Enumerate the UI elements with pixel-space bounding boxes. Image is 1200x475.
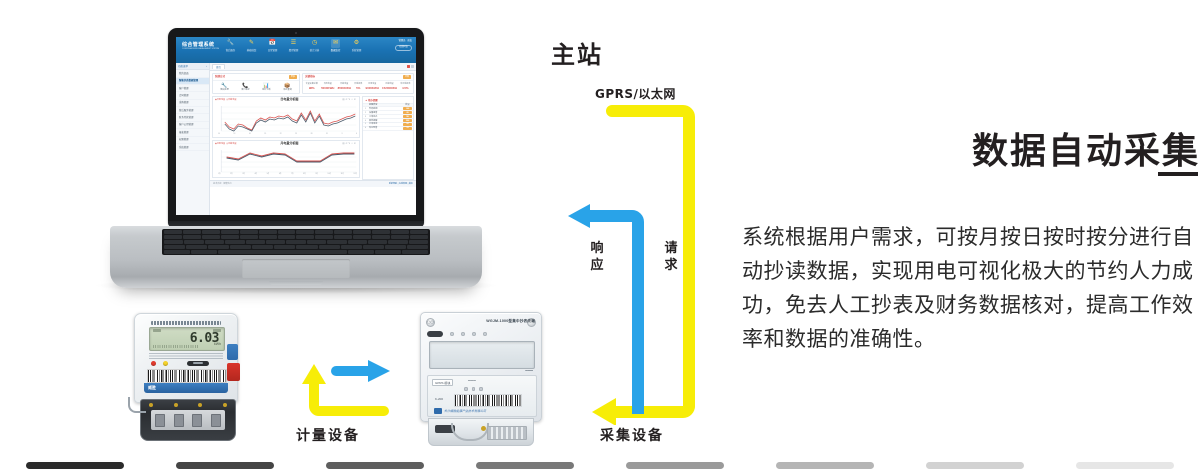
collector-brand: 长沙威胜能源产业技术有限公司	[434, 408, 486, 414]
sidebar-item-5[interactable]: 售后服务管理	[176, 107, 209, 114]
sidebar-item-2[interactable]: 客户管理	[176, 85, 209, 92]
nav-label-2: 日常管理	[266, 49, 279, 52]
gear-icon: ⚙	[352, 39, 361, 48]
xtick: 3月	[242, 174, 244, 176]
kpi-header: 关键指标 详情	[303, 74, 413, 81]
clock-icon: ◷	[310, 39, 319, 48]
charts-column: ◉日用电量 ◎日峰电量 日电量分析图 ▤↺✎○▼	[212, 96, 360, 179]
table-row[interactable]: 6 库存预警 15	[363, 127, 413, 131]
collector-model: WGJM-1000型集中抄表终端	[486, 319, 535, 324]
app-sidebar[interactable]: 功能菜单 ‹ 我的桌面 智能抄表数据管理 客户管理 合同管理 采购管理 售后服务…	[176, 63, 210, 215]
sidebar-item-10[interactable]: 系统管理	[176, 144, 209, 151]
cell-type: 回款提醒	[368, 120, 402, 123]
laptop-trackpad	[242, 259, 350, 278]
todo-title-text: 待办提醒	[368, 99, 378, 102]
collector-lcd-caption: ▬▬▬	[525, 369, 533, 372]
quick-label-1: 客户维护	[240, 89, 252, 92]
sidebar-item-1[interactable]: 智能抄表数据管理	[176, 78, 209, 85]
monthly-chart-title: 月电量分析图	[280, 142, 298, 146]
kpi-title: 关键指标	[305, 75, 315, 78]
description-text: 系统根据用户需求，可按月按日按时按分进行自动抄读数据，实现用电可视化极大的节约人…	[742, 220, 1194, 356]
nav-item-1[interactable]: ✎ 基础档案	[245, 39, 258, 52]
bottom-bar-2	[326, 462, 424, 469]
xtick: 1月	[218, 174, 220, 176]
bottom-decoration-bars	[0, 462, 1200, 469]
quick-access-header: 快捷方式 更多	[213, 74, 299, 81]
th-count: 数量	[402, 104, 413, 107]
collector-terminal-block	[487, 426, 527, 440]
nav-item-6[interactable]: ⚙ 系统管理	[350, 39, 363, 52]
daily-radio-1[interactable]: 日峰电量	[228, 99, 236, 101]
meter-housing: 6.03 kWh 威胜	[134, 313, 238, 403]
collector-barcode	[454, 394, 522, 407]
xtick: 25	[295, 134, 297, 136]
title-underline	[1158, 172, 1198, 176]
bottom-bar-1	[176, 462, 274, 469]
kpi-6: 当月线损率 4.5%	[400, 83, 410, 90]
meter-brand: 威胜	[148, 385, 156, 391]
quick-label-0: 售后处理	[219, 89, 231, 92]
cell-count: 108	[403, 107, 412, 110]
cell-count: 58	[403, 115, 412, 118]
gprs-module-label: GPRS 模块	[432, 379, 453, 386]
brand-logo-icon	[434, 408, 442, 414]
kpi-value-1: 5000KWH	[321, 87, 334, 91]
sidebar-item-7[interactable]: 客户公用管理	[176, 122, 209, 129]
monthly-radio-0[interactable]: 月用电量	[217, 143, 225, 145]
status-led-icon	[483, 332, 487, 336]
nav-label-1: 基础档案	[245, 49, 258, 52]
xtick: 4月	[255, 174, 257, 176]
cell-count: 26	[403, 111, 412, 114]
data-collector-device: ◯◯ WGJM-1000型集中抄表终端 ▬▬▬ GPRS 模块 ▬▬▬ K-20…	[420, 312, 540, 444]
logout-link[interactable]: 退出	[407, 40, 412, 42]
collector-module-panel: GPRS 模块 ▬▬▬ K-200 长沙威胜能源产业技术有限公司	[427, 375, 537, 417]
cell-type: 工单待办	[368, 116, 402, 119]
meter-red-terminal-cap	[227, 363, 240, 381]
footer-right[interactable]: 系统帮助 | 在线客服 | 版本	[389, 183, 413, 186]
page-title: 数据自动采集	[972, 122, 1200, 174]
quick-access-title: 快捷方式	[215, 75, 225, 78]
meter-lcd-display: 6.03 kWh	[149, 327, 225, 351]
xtick: 5月	[267, 174, 269, 176]
lcd-segments	[153, 345, 199, 348]
response-arrow-blue	[568, 204, 638, 414]
xtick: 13	[233, 134, 235, 136]
cell-type: 库存预警	[368, 127, 402, 130]
cell-count: 20	[403, 123, 412, 126]
status-led-icon	[450, 332, 454, 336]
kpi-items: 计量设备总数 98% 日用电量 5000KWH 日峰电量	[303, 81, 413, 93]
th-type: 提醒类型	[368, 104, 402, 107]
bottom-bar-0	[26, 462, 124, 469]
chevron-left-icon[interactable]: ‹	[206, 65, 207, 68]
cell-count: 208	[403, 119, 412, 122]
monthly-chart-box: ◉月用电量 ◎月峰电量 月电量分析图 ▤↺✎○▼	[212, 140, 360, 178]
collector-housing: ◯◯ WGJM-1000型集中抄表终端 ▬▬▬ GPRS 模块 ▬▬▬ K-20…	[420, 312, 542, 422]
bottom-bar-5	[776, 462, 874, 469]
app-footer: 技术支持：智能电力 系统帮助 | 在线客服 | 版本	[210, 180, 416, 187]
meter-terminal-cover	[140, 399, 236, 441]
nav-item-4[interactable]: ◷ 统计分析	[308, 39, 321, 52]
single-phase-meter: 6.03 kWh 威胜	[126, 313, 244, 443]
kpi-value-6: 4.5%	[400, 87, 410, 91]
collector-indicators	[427, 329, 535, 339]
app-logo-subtitle: COMPREHENSIVE MANAGEMENT SYSTEM	[182, 48, 219, 50]
laptop-illustration: 综合管理系统 COMPREHENSIVE MANAGEMENT SYSTEM 🔧…	[110, 28, 482, 308]
xtick: 12月	[354, 174, 357, 176]
nav-item-5[interactable]: ✉ 数据监控	[329, 39, 342, 52]
kpi-value-5: 15200KWH	[382, 87, 397, 91]
module-leds	[464, 387, 483, 391]
downlink-arrow-blue	[336, 360, 390, 382]
list-icon: ☰	[289, 39, 298, 48]
collector-terminal-cover	[428, 418, 534, 446]
nav-label-4: 统计分析	[308, 49, 321, 52]
meter-button[interactable]	[187, 361, 209, 366]
xtick: 11月	[341, 174, 344, 176]
meter-spec-text	[149, 351, 223, 359]
sidebar-header-label: 功能菜单	[178, 65, 188, 68]
monthly-radio-1[interactable]: 月峰电量	[228, 143, 236, 145]
dashboard-panels: 快捷方式 更多 🔧 售后处理 📞	[210, 71, 416, 96]
quick-item-2[interactable]: 📊 统计分析	[261, 83, 273, 92]
status-led-icon	[461, 332, 465, 336]
sidebar-item-9[interactable]: 权限管理	[176, 137, 209, 144]
refresh-icon[interactable]	[411, 65, 414, 68]
nav-item-3[interactable]: ☰ 费用管理	[287, 39, 300, 52]
mail-icon: ✉	[331, 39, 340, 48]
xtick: 19	[264, 134, 266, 136]
yellow-led-icon	[163, 361, 168, 366]
todo-table: ▲ 待办提醒 提醒类型 数量 1 合同到期 1	[362, 96, 414, 179]
main-station-label: 主站	[551, 35, 603, 70]
collector-mark: ◯◯	[427, 320, 434, 324]
quick-label-2: 统计分析	[261, 89, 273, 92]
xtick: 22	[280, 134, 282, 136]
kpi-1: 日用电量 5000KWH	[321, 83, 334, 90]
kpi-detail-button[interactable]: 详情	[403, 75, 411, 78]
metering-device-label: 计量设备	[296, 425, 360, 445]
collection-device-label: 采集设备	[600, 425, 664, 445]
monthly-chart-tools[interactable]: ▤↺✎○▼	[342, 143, 357, 146]
quick-access-more-button[interactable]: 更多	[289, 75, 297, 78]
nav-label-3: 费用管理	[287, 49, 300, 52]
meter-brand-note	[223, 386, 224, 389]
kpi-value-2: 8500KWH	[338, 87, 351, 91]
kpi-3: 日线损率 5%	[354, 83, 362, 90]
xtick: 6	[356, 134, 357, 136]
xtick: 10	[218, 134, 220, 136]
xtick: 2月	[230, 174, 232, 176]
daily-chart-title: 日电量分析图	[280, 98, 298, 102]
meter-indicator-leds	[151, 361, 168, 366]
kpi-value-0: 98%	[306, 87, 318, 91]
bottom-bar-4	[626, 462, 724, 469]
kpi-2: 日峰电量 8500KWH	[338, 83, 351, 90]
cell-count: 15	[403, 127, 412, 130]
cell-type: 设备报警	[368, 112, 402, 115]
collector-code: K-200	[435, 397, 443, 401]
meter-barcode	[147, 369, 227, 383]
station-flow-arrows	[548, 100, 698, 425]
laptop-base	[110, 226, 482, 288]
sidebar-item-0[interactable]: 我的桌面	[176, 70, 209, 77]
daily-chart-plot	[213, 103, 359, 134]
bottom-bar-7	[1076, 462, 1174, 469]
quick-label-3: 库存查询	[282, 89, 294, 92]
xtick: 10月	[328, 174, 331, 176]
app-nav[interactable]: 🔧 售后服务 ✎ 基础档案 📅 日常管理 ☰	[224, 39, 363, 52]
collector-terminal-screw	[481, 426, 486, 431]
meter-brand-strip: 威胜	[144, 383, 228, 393]
xtick: 9月	[315, 174, 317, 176]
bottom-bar-3	[476, 462, 574, 469]
quick-access-panel: 快捷方式 更多 🔧 售后处理 📞	[212, 73, 300, 94]
tab-home[interactable]: 首页	[212, 64, 225, 70]
ir-port-icon	[427, 331, 443, 337]
online-time-pill: 在线时长	[395, 45, 412, 51]
xtick: 16	[249, 134, 251, 136]
collector-lcd-display	[429, 341, 535, 369]
meter-wire	[128, 397, 146, 413]
app-logo: 综合管理系统 COMPREHENSIVE MANAGEMENT SYSTEM	[182, 42, 219, 50]
status-led-icon	[472, 332, 476, 336]
laptop-keyboard	[162, 229, 430, 255]
kpi-value-3: 5%	[354, 87, 362, 91]
daily-chart-radios[interactable]: ◉日用电量 ◎日峰电量	[215, 99, 236, 102]
charts-area: ◉日用电量 ◎日峰电量 日电量分析图 ▤↺✎○▼	[210, 96, 416, 179]
kpi-4: 月用电量 9000KWH	[366, 83, 379, 90]
cell-type: 合同到期	[368, 108, 402, 111]
wrench-icon: 🔧	[226, 39, 235, 48]
xtick: 6月	[279, 174, 281, 176]
sidebar-item-6[interactable]: 财务付款管理	[176, 114, 209, 121]
terminal-block	[151, 410, 225, 430]
app-main: 首页 快捷方式 更多	[210, 63, 416, 215]
daily-chart-box: ◉日用电量 ◎日峰电量 日电量分析图 ▤↺✎○▼	[212, 96, 360, 138]
meter-model-label	[151, 321, 221, 325]
collector-header: ◯◯ WGJM-1000型集中抄表终端	[427, 319, 535, 327]
nav-item-0[interactable]: 🔧 售后服务	[224, 39, 237, 52]
red-led-icon	[151, 361, 156, 366]
brand-text: 长沙威胜能源产业技术有限公司	[444, 409, 486, 413]
nav-item-2[interactable]: 📅 日常管理	[266, 39, 279, 52]
tab-tools[interactable]	[407, 65, 415, 68]
kpi-value-4: 9000KWH	[366, 87, 379, 91]
app-header-right[interactable]: 管理员 退出 在线时长	[395, 40, 412, 51]
kpi-panel: 关键指标 详情 计量设备总数 98% 日用电量	[302, 73, 414, 94]
footer-left: 技术支持：智能电力	[213, 183, 232, 186]
kpi-5: 月峰电量 15200KWH	[382, 83, 397, 90]
quick-item-0[interactable]: 🔧 售后处理	[219, 83, 231, 92]
laptop-screen: 综合管理系统 COMPREHENSIVE MANAGEMENT SYSTEM 🔧…	[176, 37, 416, 215]
xtick: 7月	[291, 174, 293, 176]
xtick: 31	[326, 134, 328, 136]
monthly-chart-radios[interactable]: ◉月用电量 ◎月峰电量	[215, 143, 236, 146]
sidebar-item-8[interactable]: 报表管理	[176, 129, 209, 136]
tab-bar[interactable]: 首页	[210, 63, 416, 71]
app-body: 功能菜单 ‹ 我的桌面 智能抄表数据管理 客户管理 合同管理 采购管理 售后服务…	[176, 63, 416, 215]
xtick: 28	[311, 134, 313, 136]
app-header: 综合管理系统 COMPREHENSIVE MANAGEMENT SYSTEM 🔧…	[176, 37, 416, 63]
nav-label-0: 售后服务	[224, 49, 237, 52]
meter-blue-terminal-cap	[227, 344, 238, 360]
close-all-icon[interactable]	[407, 65, 410, 68]
current-user: 管理员	[399, 40, 406, 42]
quick-access-items[interactable]: 🔧 售后处理 📞 客户维护 📊 统计分析	[213, 81, 299, 94]
collector-panel-note: ▬▬▬	[468, 379, 476, 382]
laptop-lid: 综合管理系统 COMPREHENSIVE MANAGEMENT SYSTEM 🔧…	[168, 28, 424, 224]
sidebar-header: 功能菜单 ‹	[176, 63, 209, 70]
calendar-icon: 📅	[268, 39, 277, 48]
kpi-0: 计量设备总数 98%	[306, 83, 318, 90]
quick-item-1[interactable]: 📞 客户维护	[240, 83, 252, 92]
xtick: 3	[342, 134, 343, 136]
monthly-chart-plot	[213, 147, 359, 174]
cell-type: 订单审批	[368, 123, 402, 126]
daily-chart-tools[interactable]: ▤↺✎○▼	[342, 99, 357, 102]
xtick: 8月	[303, 174, 305, 176]
quick-item-3[interactable]: 📦 库存查询	[282, 83, 294, 92]
management-system-app: 综合管理系统 COMPREHENSIVE MANAGEMENT SYSTEM 🔧…	[176, 37, 416, 215]
edit-icon: ✎	[247, 39, 256, 48]
nav-label-6: 系统管理	[350, 49, 363, 52]
daily-radio-0[interactable]: 日用电量	[217, 99, 225, 101]
sidebar-item-3[interactable]: 合同管理	[176, 92, 209, 99]
sidebar-item-4[interactable]: 采购管理	[176, 100, 209, 107]
bottom-bar-6	[926, 462, 1024, 469]
meter-reading-unit: kWh	[214, 342, 221, 346]
nav-label-5: 数据监控	[329, 49, 342, 52]
terminal-screws	[149, 403, 227, 407]
meter-flow-arrows	[292, 358, 402, 420]
